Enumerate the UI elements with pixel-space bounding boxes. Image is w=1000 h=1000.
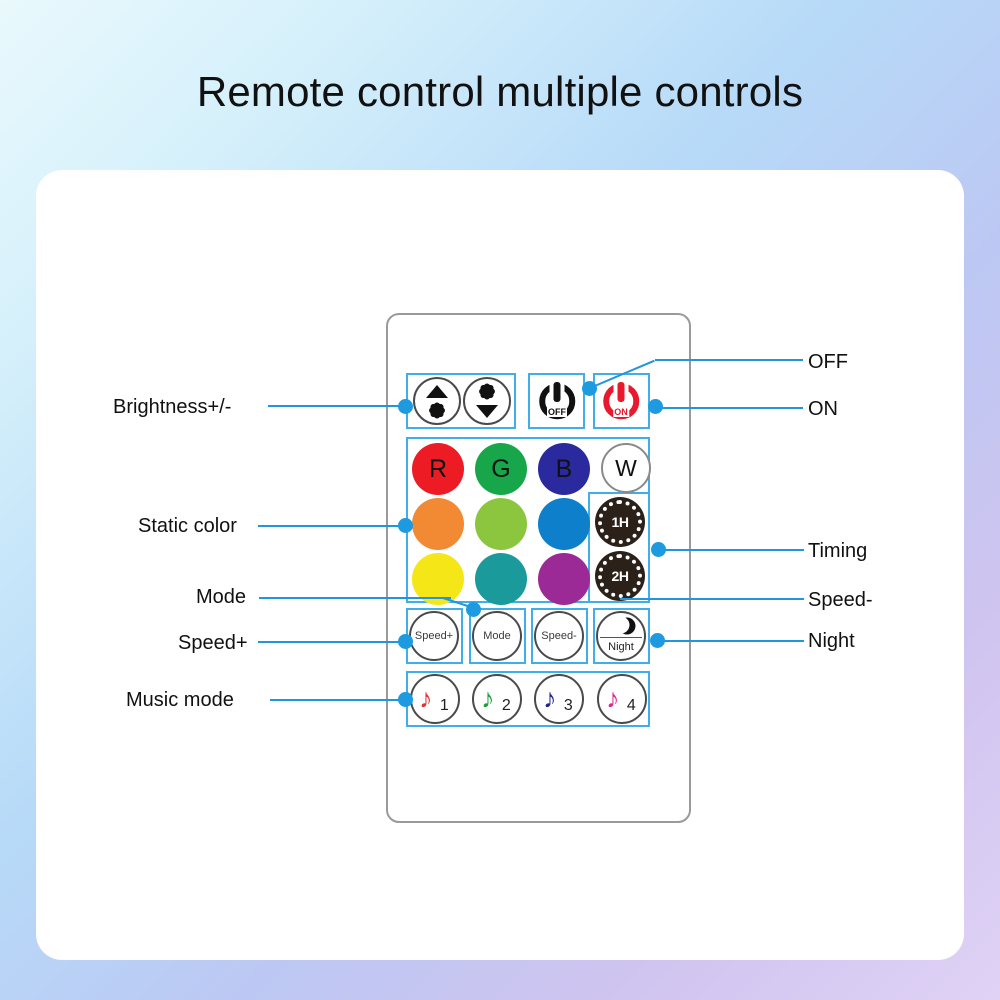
mode-label: Mode [483,630,511,642]
callout-label-timing: Timing [808,540,867,563]
timer-2h-label: 2H [612,568,629,584]
music-button-1[interactable]: ♪ 1 [410,674,460,724]
power-on-button[interactable]: ON [597,377,645,425]
music-button-3[interactable]: ♪ 3 [534,674,584,724]
callout-label-speed-plus: Speed+ [178,632,248,655]
callout-dot-timing [651,542,666,557]
color-label-white: W [615,455,637,482]
page-root: Remote control multiple controls [0,0,1000,1000]
color-button-purple[interactable] [538,553,590,605]
color-button-white[interactable]: W [601,443,651,493]
page-title: Remote control multiple controls [0,68,1000,116]
callout-dot-mode [466,602,481,617]
timer-button-1h[interactable]: 1H [595,497,645,547]
night-button[interactable]: Night [596,611,646,661]
callout-line-timing [662,549,804,551]
callout-dot-speed-plus [398,634,413,649]
callout-label-off: OFF [808,351,848,374]
callout-label-speed-minus: Speed- [808,589,873,612]
power-on-label: ON [613,408,629,417]
callout-line-on [658,407,803,409]
music-note-2-icon: ♪ 2 [474,676,520,722]
brightness-up-button[interactable] [413,377,461,425]
brightness-down-icon [465,379,509,423]
callout-label-static-color: Static color [138,515,237,538]
music-note-3-icon: ♪ 3 [536,676,582,722]
timer-1h-label: 1H [612,514,629,530]
callout-label-mode: Mode [196,586,246,609]
color-button-green[interactable]: G [475,443,527,495]
callout-label-night: Night [808,630,855,653]
mode-button[interactable]: Mode [472,611,522,661]
power-off-button[interactable]: OFF [533,377,581,425]
color-button-orange[interactable] [412,498,464,550]
callout-dot-off [582,381,597,396]
callout-line-mode [259,597,451,599]
callout-line-brightness [268,405,405,407]
color-button-teal[interactable] [475,553,527,605]
power-off-label: OFF [547,408,567,417]
brightness-up-icon [415,379,459,423]
speed-minus-label: Speed- [541,630,576,642]
callout-label-on: ON [808,398,838,421]
callout-line-speed-minus [620,598,804,600]
callout-line-speed-plus [258,641,405,643]
music-num-2: 2 [502,698,511,714]
callout-label-music-mode: Music mode [126,689,234,712]
speed-plus-label: Speed+ [415,630,453,642]
color-button-blue[interactable]: B [538,443,590,495]
color-label-green: G [491,457,510,482]
music-num-4: 4 [627,698,636,714]
callout-line-music-mode [270,699,405,701]
remote-control-body: OFF ON R G B W [386,313,691,823]
color-label-red: R [429,457,447,482]
color-button-lightgreen[interactable] [475,498,527,550]
music-button-2[interactable]: ♪ 2 [472,674,522,724]
callout-dot-brightness [398,399,413,414]
color-label-blue: B [556,457,573,482]
callout-line-off [655,359,803,361]
callout-label-brightness: Brightness+/- [113,396,231,419]
music-num-1: 1 [440,698,449,714]
music-note-4-icon: ♪ 4 [599,676,645,722]
night-label: Night [608,641,634,653]
timer-2h-icon: 2H [595,551,645,601]
brightness-down-button[interactable] [463,377,511,425]
timer-1h-icon: 1H [595,497,645,547]
callout-dot-on [648,399,663,414]
music-note-1-icon: ♪ 1 [412,676,458,722]
callout-line-static-color [258,525,405,527]
power-off-icon: OFF [533,377,581,425]
callout-dot-static-color [398,518,413,533]
music-button-4[interactable]: ♪ 4 [597,674,647,724]
speed-plus-button[interactable]: Speed+ [409,611,459,661]
speed-minus-button[interactable]: Speed- [534,611,584,661]
moon-icon: Night [598,613,644,659]
callout-dot-music-mode [398,692,413,707]
timer-button-2h[interactable]: 2H [595,551,645,601]
power-on-icon: ON [597,377,645,425]
music-num-3: 3 [564,698,573,714]
color-button-red[interactable]: R [412,443,464,495]
callout-line-night [660,640,804,642]
color-button-skyblue[interactable] [538,498,590,550]
callout-dot-night [650,633,665,648]
